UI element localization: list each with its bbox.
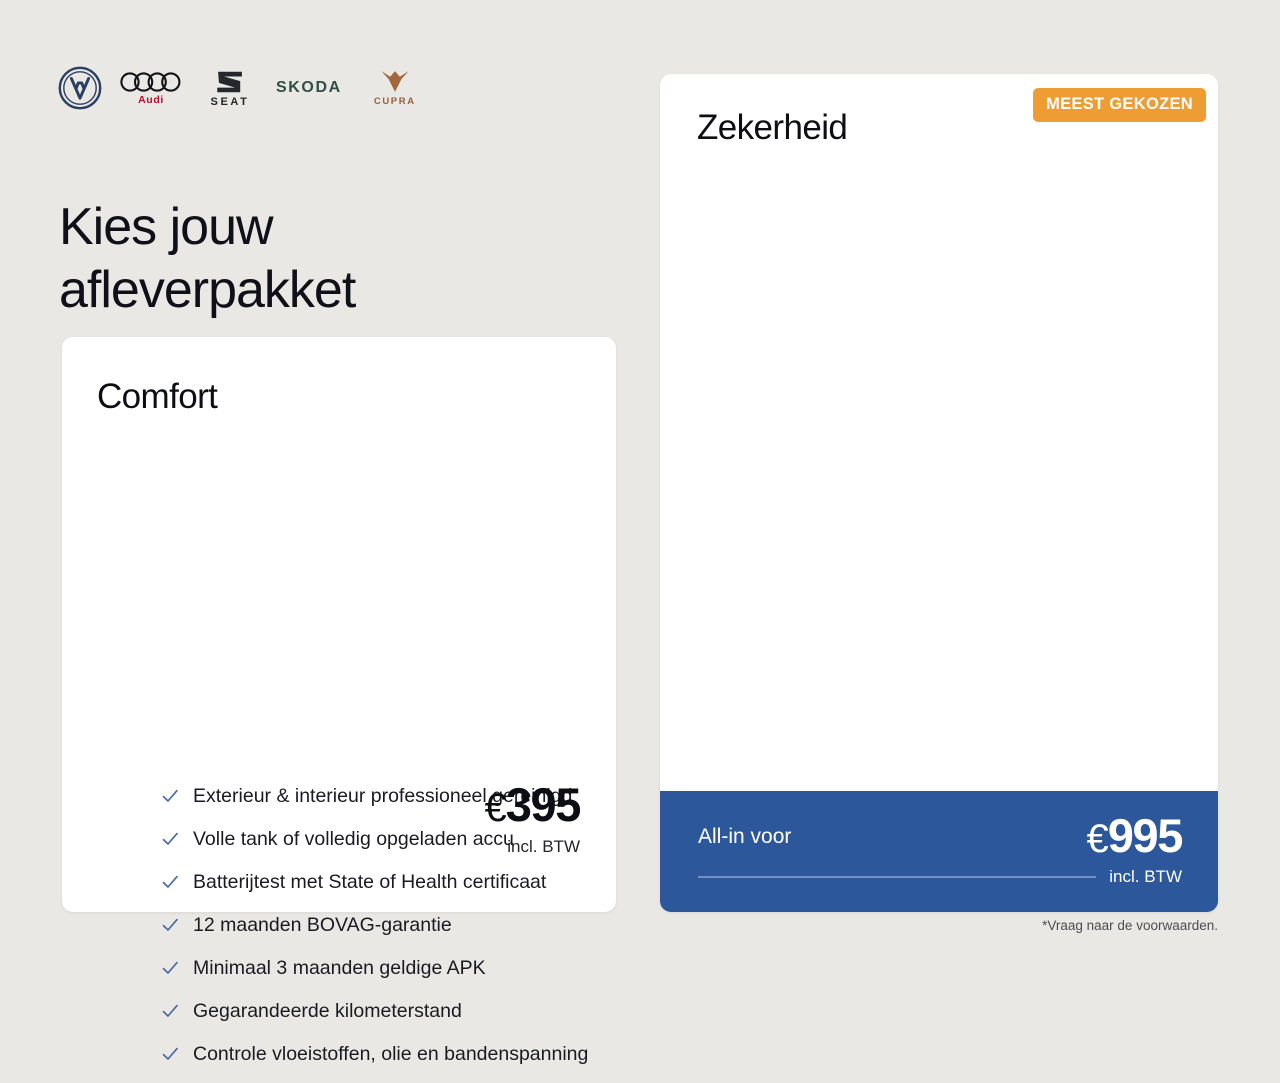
footnote-text: *Vraag naar de voorwaarden. <box>1042 918 1218 933</box>
check-icon <box>160 1001 180 1021</box>
feature-text: Gegarandeerde kilometerstand <box>193 997 462 1025</box>
feature-text: Volle tank of volledig opgeladen accu <box>193 825 514 853</box>
feature-text: Controle vloeistoffen, olie en bandenspa… <box>193 1040 588 1068</box>
zekerheid-price-note: incl. BTW <box>1109 867 1182 887</box>
list-item: Controle vloeistoffen, olie en bandenspa… <box>160 1040 630 1068</box>
feature-text: Minimaal 3 maanden geldige APK <box>193 954 486 982</box>
seat-wordmark: SEAT <box>211 96 250 108</box>
package-card-zekerheid[interactable]: MEEST GEKOZEN Zekerheid Alles uit Comfor… <box>660 74 1218 912</box>
headline-line-1: Kies jouw <box>59 198 273 256</box>
comfort-price-amount: €395 <box>485 781 580 828</box>
price-value: 395 <box>506 778 580 831</box>
check-icon <box>160 786 180 806</box>
check-icon <box>160 958 180 978</box>
zekerheid-price-amount: €995 <box>1087 812 1182 859</box>
feature-text: Batterijtest met State of Health certifi… <box>193 868 546 896</box>
headline-line-2: afleverpakket <box>59 261 355 319</box>
list-item: Gegarandeerde kilometerstand <box>160 997 630 1025</box>
list-item: Batterijtest met State of Health certifi… <box>160 868 630 896</box>
price-rule <box>698 876 1096 878</box>
volkswagen-logo-icon <box>58 66 102 110</box>
cupra-wordmark: CUPRA <box>374 96 416 107</box>
list-item: 12 maanden BOVAG-garantie <box>160 911 630 939</box>
comfort-price-block: €395 incl. BTW <box>485 781 580 857</box>
seat-logo-icon: SEAT <box>202 69 258 108</box>
list-item: Minimaal 3 maanden geldige APK <box>160 954 630 982</box>
audi-wordmark: Audi <box>138 94 164 106</box>
package-card-comfort[interactable]: Comfort Exterieur & interieur profession… <box>62 337 616 912</box>
price-label: All-in voor <box>698 825 791 849</box>
skoda-wordmark: SKODA <box>276 79 342 97</box>
audi-logo-icon: Audi <box>120 71 182 106</box>
zekerheid-price-bar: All-in voor €995 incl. BTW <box>660 791 1218 912</box>
status-badge: MEEST GEKOZEN <box>1033 88 1206 122</box>
zekerheid-card-title: Zekerheid <box>697 108 847 148</box>
comfort-card-title: Comfort <box>97 377 217 417</box>
feature-text: 12 maanden BOVAG-garantie <box>193 911 452 939</box>
currency-symbol: € <box>1087 817 1108 861</box>
price-value: 995 <box>1108 809 1182 862</box>
check-icon <box>160 1044 180 1064</box>
currency-symbol: € <box>485 786 506 830</box>
check-icon <box>160 915 180 935</box>
check-icon <box>160 829 180 849</box>
poster-canvas: Audi SEAT SKODA CUPRA Kies jouw afleverp… <box>0 0 1280 965</box>
comfort-price-note: incl. BTW <box>485 837 580 857</box>
brand-logo-strip: Audi SEAT SKODA CUPRA <box>58 62 424 114</box>
skoda-logo-icon: SKODA <box>276 79 342 97</box>
check-icon <box>160 872 180 892</box>
cupra-logo-icon: CUPRA <box>366 69 424 107</box>
page-title: Kies jouw afleverpakket <box>59 196 619 322</box>
